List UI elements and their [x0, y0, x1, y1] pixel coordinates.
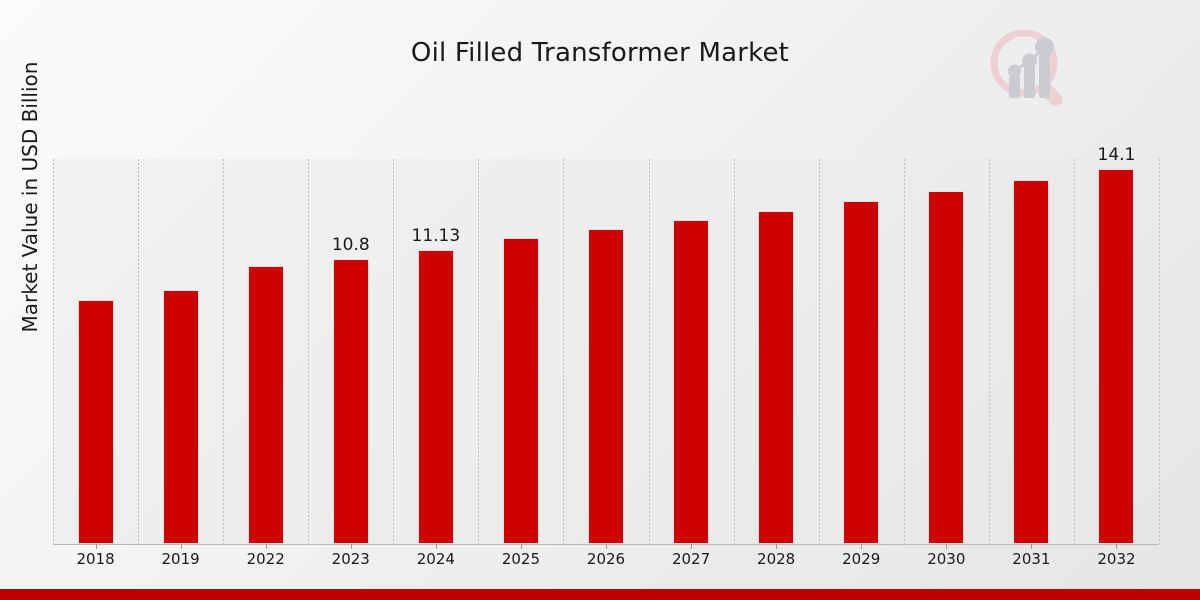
gridline	[308, 159, 309, 544]
gridline	[393, 159, 394, 544]
bar-2032[interactable]	[1098, 169, 1134, 544]
x-tick-2029	[861, 544, 862, 549]
x-axis-label-2025: 2025	[481, 550, 561, 568]
x-tick-2030	[946, 544, 947, 549]
bar-value-label-2023: 10.8	[311, 235, 391, 255]
bar-value-label-2032: 14.1	[1076, 145, 1156, 165]
gridline	[734, 159, 735, 544]
gridline	[649, 159, 650, 544]
x-axis-label-2031: 2031	[991, 550, 1071, 568]
gridline	[223, 159, 224, 544]
x-axis-label-2018: 2018	[56, 550, 136, 568]
x-tick-2031	[1031, 544, 1032, 549]
bar-2031[interactable]	[1013, 180, 1049, 544]
x-tick-2025	[521, 544, 522, 549]
x-axis-label-2026: 2026	[566, 550, 646, 568]
gridline	[53, 159, 54, 544]
x-axis-label-2024: 2024	[396, 550, 476, 568]
x-tick-2022	[266, 544, 267, 549]
x-axis-label-2022: 2022	[226, 550, 306, 568]
bar-2022[interactable]	[248, 266, 284, 544]
x-tick-2024	[436, 544, 437, 549]
x-tick-2018	[96, 544, 97, 549]
x-tick-2027	[691, 544, 692, 549]
chart-root: Oil Filled Transformer Market Market Val…	[0, 0, 1200, 600]
gridline	[819, 159, 820, 544]
gridline	[904, 159, 905, 544]
gridline	[138, 159, 139, 544]
gridline	[989, 159, 990, 544]
gridline	[1159, 159, 1160, 544]
gridline	[1074, 159, 1075, 544]
gridline	[563, 159, 564, 544]
bar-2030[interactable]	[928, 191, 964, 544]
bar-2026[interactable]	[588, 229, 624, 544]
bar-2028[interactable]	[758, 211, 794, 544]
bar-2023[interactable]	[333, 259, 369, 544]
footer-accent-band	[0, 589, 1200, 600]
x-axis-label-2027: 2027	[651, 550, 731, 568]
bar-value-label-2024: 11.13	[396, 226, 476, 246]
bar-2019[interactable]	[163, 290, 199, 544]
x-tick-2023	[351, 544, 352, 549]
magnifier-bar-chart-logo	[983, 24, 1075, 116]
x-axis-label-2029: 2029	[821, 550, 901, 568]
x-tick-2032	[1116, 544, 1117, 549]
x-axis-label-2032: 2032	[1076, 550, 1156, 568]
x-tick-2019	[181, 544, 182, 549]
x-tick-2028	[776, 544, 777, 549]
x-tick-2026	[606, 544, 607, 549]
x-axis-label-2019: 2019	[141, 550, 221, 568]
bar-2025[interactable]	[503, 238, 539, 544]
bar-2024[interactable]	[418, 250, 454, 544]
bar-2018[interactable]	[78, 300, 114, 544]
x-axis-label-2028: 2028	[736, 550, 816, 568]
y-axis-title: Market Value in USD Billion	[18, 0, 42, 397]
gridline	[478, 159, 479, 544]
x-axis-label-2030: 2030	[906, 550, 986, 568]
x-axis-label-2023: 2023	[311, 550, 391, 568]
bar-2027[interactable]	[673, 220, 709, 544]
bar-2029[interactable]	[843, 201, 879, 544]
